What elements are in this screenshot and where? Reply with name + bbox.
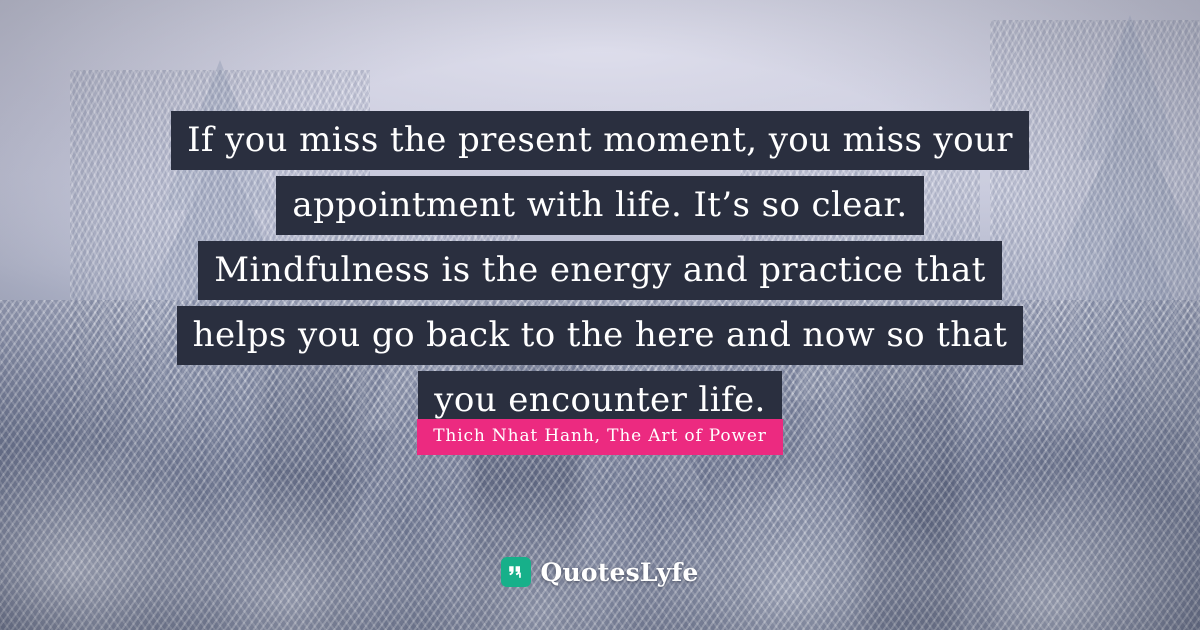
attribution-badge: Thich Nhat Hanh, The Art of Power: [417, 419, 783, 455]
quote-line-2: appointment with life. It’s so clear.: [276, 176, 923, 235]
brand-name: QuotesLyfe: [540, 560, 698, 585]
quote-line-4: helps you go back to the here and now so…: [177, 306, 1024, 365]
quote-line-1: If you miss the present moment, you miss…: [171, 111, 1029, 170]
quote-line-3: Mindfulness is the energy and practice t…: [198, 241, 1002, 300]
brand-watermark[interactable]: QuotesLyfe: [0, 557, 1200, 587]
quote-marks-icon: [501, 557, 531, 587]
quote-card: If you miss the present moment, you miss…: [0, 0, 1200, 630]
attribution-block: Thich Nhat Hanh, The Art of Power: [0, 419, 1200, 455]
quote-block: If you miss the present moment, you miss…: [0, 111, 1200, 436]
